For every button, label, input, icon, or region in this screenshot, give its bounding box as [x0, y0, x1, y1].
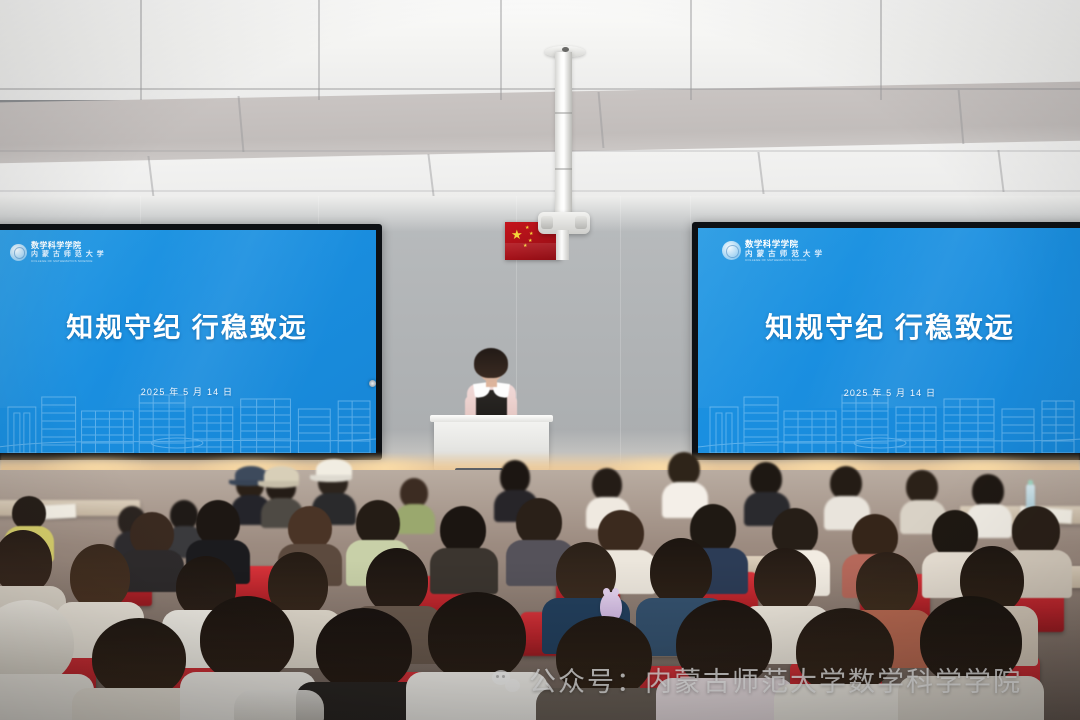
audience-head — [972, 474, 1004, 508]
wall-panel-seam — [620, 196, 621, 464]
audience-head — [440, 506, 486, 554]
ceiling-seam — [140, 0, 142, 100]
right-slide: 数学科学学院 内 蒙 古 师 范 大 学 COLLEGE OF MATHEMAT… — [698, 228, 1080, 453]
left-display[interactable]: 数学科学学院 内 蒙 古 师 范 大 学 COLLEGE OF MATHEMAT… — [0, 224, 382, 460]
audience-cap — [316, 459, 352, 480]
audience-body — [898, 676, 1044, 720]
audience-member — [92, 618, 188, 720]
flag-sheen — [505, 243, 561, 260]
slide-date-right: 2025 年 5 月 14 日 — [698, 386, 1080, 399]
audience-head — [906, 470, 938, 504]
audience-member — [676, 600, 774, 720]
audience-member — [920, 596, 1024, 720]
audience-body — [536, 688, 674, 720]
audience-head — [0, 530, 52, 594]
audience-head — [366, 548, 428, 614]
lectern-top — [430, 415, 553, 422]
logo-line1: 数学科学学院 — [31, 242, 105, 250]
audience-head — [830, 466, 862, 500]
audience-head — [650, 538, 712, 606]
ceiling-seam — [690, 0, 692, 100]
audience-head — [500, 460, 530, 494]
slide-logo-right: 数学科学学院 内 蒙 古 师 范 大 学 COLLEGE OF MATHEMAT… — [722, 240, 823, 262]
wall-panel-seam — [690, 196, 691, 464]
ceiling-seam — [0, 88, 1080, 90]
audience-head — [676, 600, 772, 688]
right-display[interactable]: 数学科学学院 内 蒙 古 师 范 大 学 COLLEGE OF MATHEMAT… — [692, 222, 1080, 460]
audience-head — [316, 608, 412, 692]
audience-member — [668, 452, 702, 512]
presenter-hair — [474, 348, 508, 378]
slide-title-right: 知规守纪 行稳致远 — [698, 306, 1080, 346]
logo-line2: 内 蒙 古 师 范 大 学 — [745, 250, 823, 258]
audience-body — [406, 672, 548, 720]
audience-body — [430, 548, 498, 594]
audience-member — [400, 478, 430, 530]
lecture-hall-photo: ★ ★ ★ ★ ★ — [0, 0, 1080, 720]
audience-member — [428, 592, 528, 720]
audience-member — [440, 506, 488, 586]
logo-line-en: COLLEGE OF MATHEMATICS SCIENCE — [745, 259, 823, 262]
ceiling-seam — [0, 150, 1080, 152]
ceiling-seam — [318, 0, 320, 100]
college-emblem-icon — [10, 244, 27, 261]
logo-line1: 数学科学学院 — [745, 240, 823, 249]
college-emblem-icon — [722, 241, 741, 260]
audience-member — [316, 608, 414, 720]
audience-head — [796, 608, 894, 694]
slide-date-left: 2025 年 5 月 14 日 — [0, 385, 376, 398]
audience-head — [428, 592, 526, 682]
audience-body — [774, 684, 916, 720]
audience-member — [130, 512, 176, 586]
slide-logo-left: 数学科学学院 内 蒙 古 师 范 大 学 COLLEGE OF MATHEMAT… — [10, 242, 105, 263]
audience-member — [0, 600, 76, 720]
left-slide: 数学科学学院 内 蒙 古 师 范 大 学 COLLEGE OF MATHEMAT… — [0, 230, 376, 453]
flag-star-large: ★ — [511, 228, 523, 241]
audience-head — [92, 618, 186, 698]
ceiling-seam — [0, 190, 1080, 192]
audience-head — [12, 496, 46, 530]
audience-head — [556, 616, 652, 698]
audience-head — [70, 544, 130, 610]
projector-pole — [555, 52, 572, 232]
audience-member — [796, 608, 896, 720]
logo-line2: 内 蒙 古 师 范 大 学 — [31, 251, 105, 258]
audience-head — [200, 596, 294, 682]
audience-head — [920, 596, 1022, 686]
slide-title-left: 知规守纪 行稳致远 — [0, 306, 376, 345]
flag-star-small: ★ — [529, 232, 533, 237]
projector-pole-seam — [555, 168, 572, 170]
ceiling-seam — [880, 0, 882, 100]
presenter — [448, 348, 534, 422]
plastic-bag — [234, 690, 324, 720]
audience-head — [516, 498, 562, 546]
audience-member — [556, 616, 654, 720]
projector-pole-seam — [555, 112, 572, 114]
logo-line-en: COLLEGE OF MATHEMATICS SCIENCE — [31, 260, 105, 263]
audience-head — [750, 462, 782, 496]
projector-lower-pole — [556, 230, 569, 260]
ceiling-seam — [500, 0, 502, 100]
audience-head — [668, 452, 700, 486]
display-indicator-led — [369, 380, 376, 387]
audience-cap — [264, 466, 299, 486]
